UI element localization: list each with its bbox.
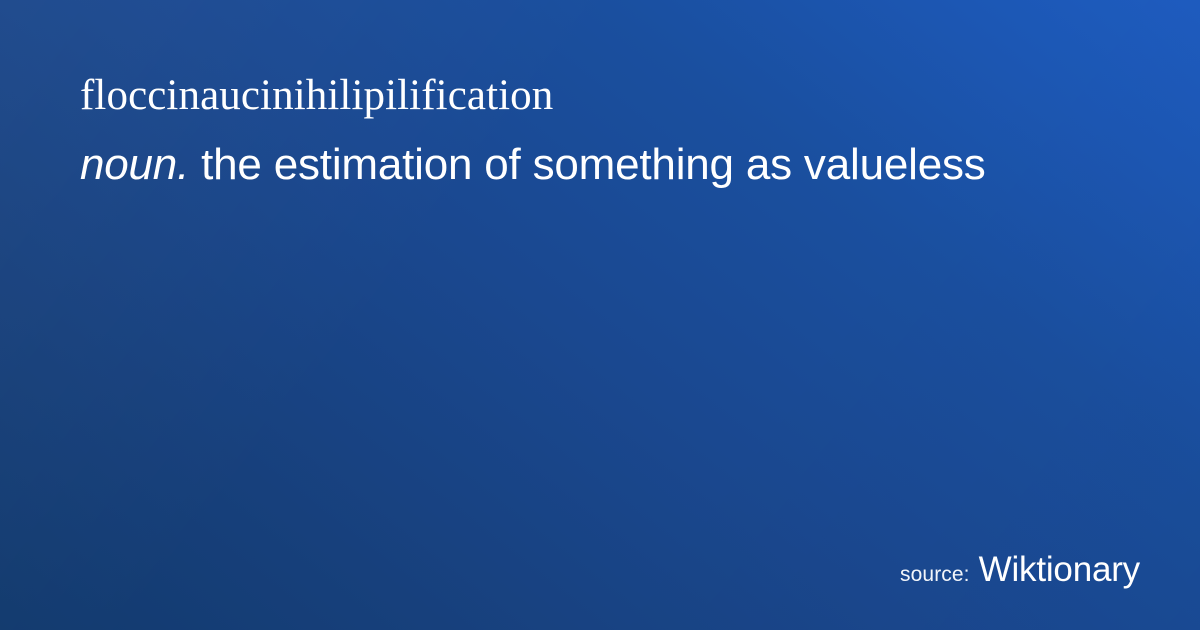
definition-line: noun. the estimation of something as val… <box>80 142 1120 189</box>
definition-text: the estimation of something as valueless <box>189 140 985 189</box>
word-of-the-day-card: floccinaucinihilipilification noun. the … <box>0 0 1200 630</box>
source-attribution: source: Wiktionary <box>900 550 1140 590</box>
source-label: source: <box>900 563 970 587</box>
part-of-speech: noun. <box>80 140 189 189</box>
source-name: Wiktionary <box>979 550 1140 590</box>
definition-block: floccinaucinihilipilification noun. the … <box>80 74 1120 189</box>
headword: floccinaucinihilipilification <box>80 74 1120 117</box>
